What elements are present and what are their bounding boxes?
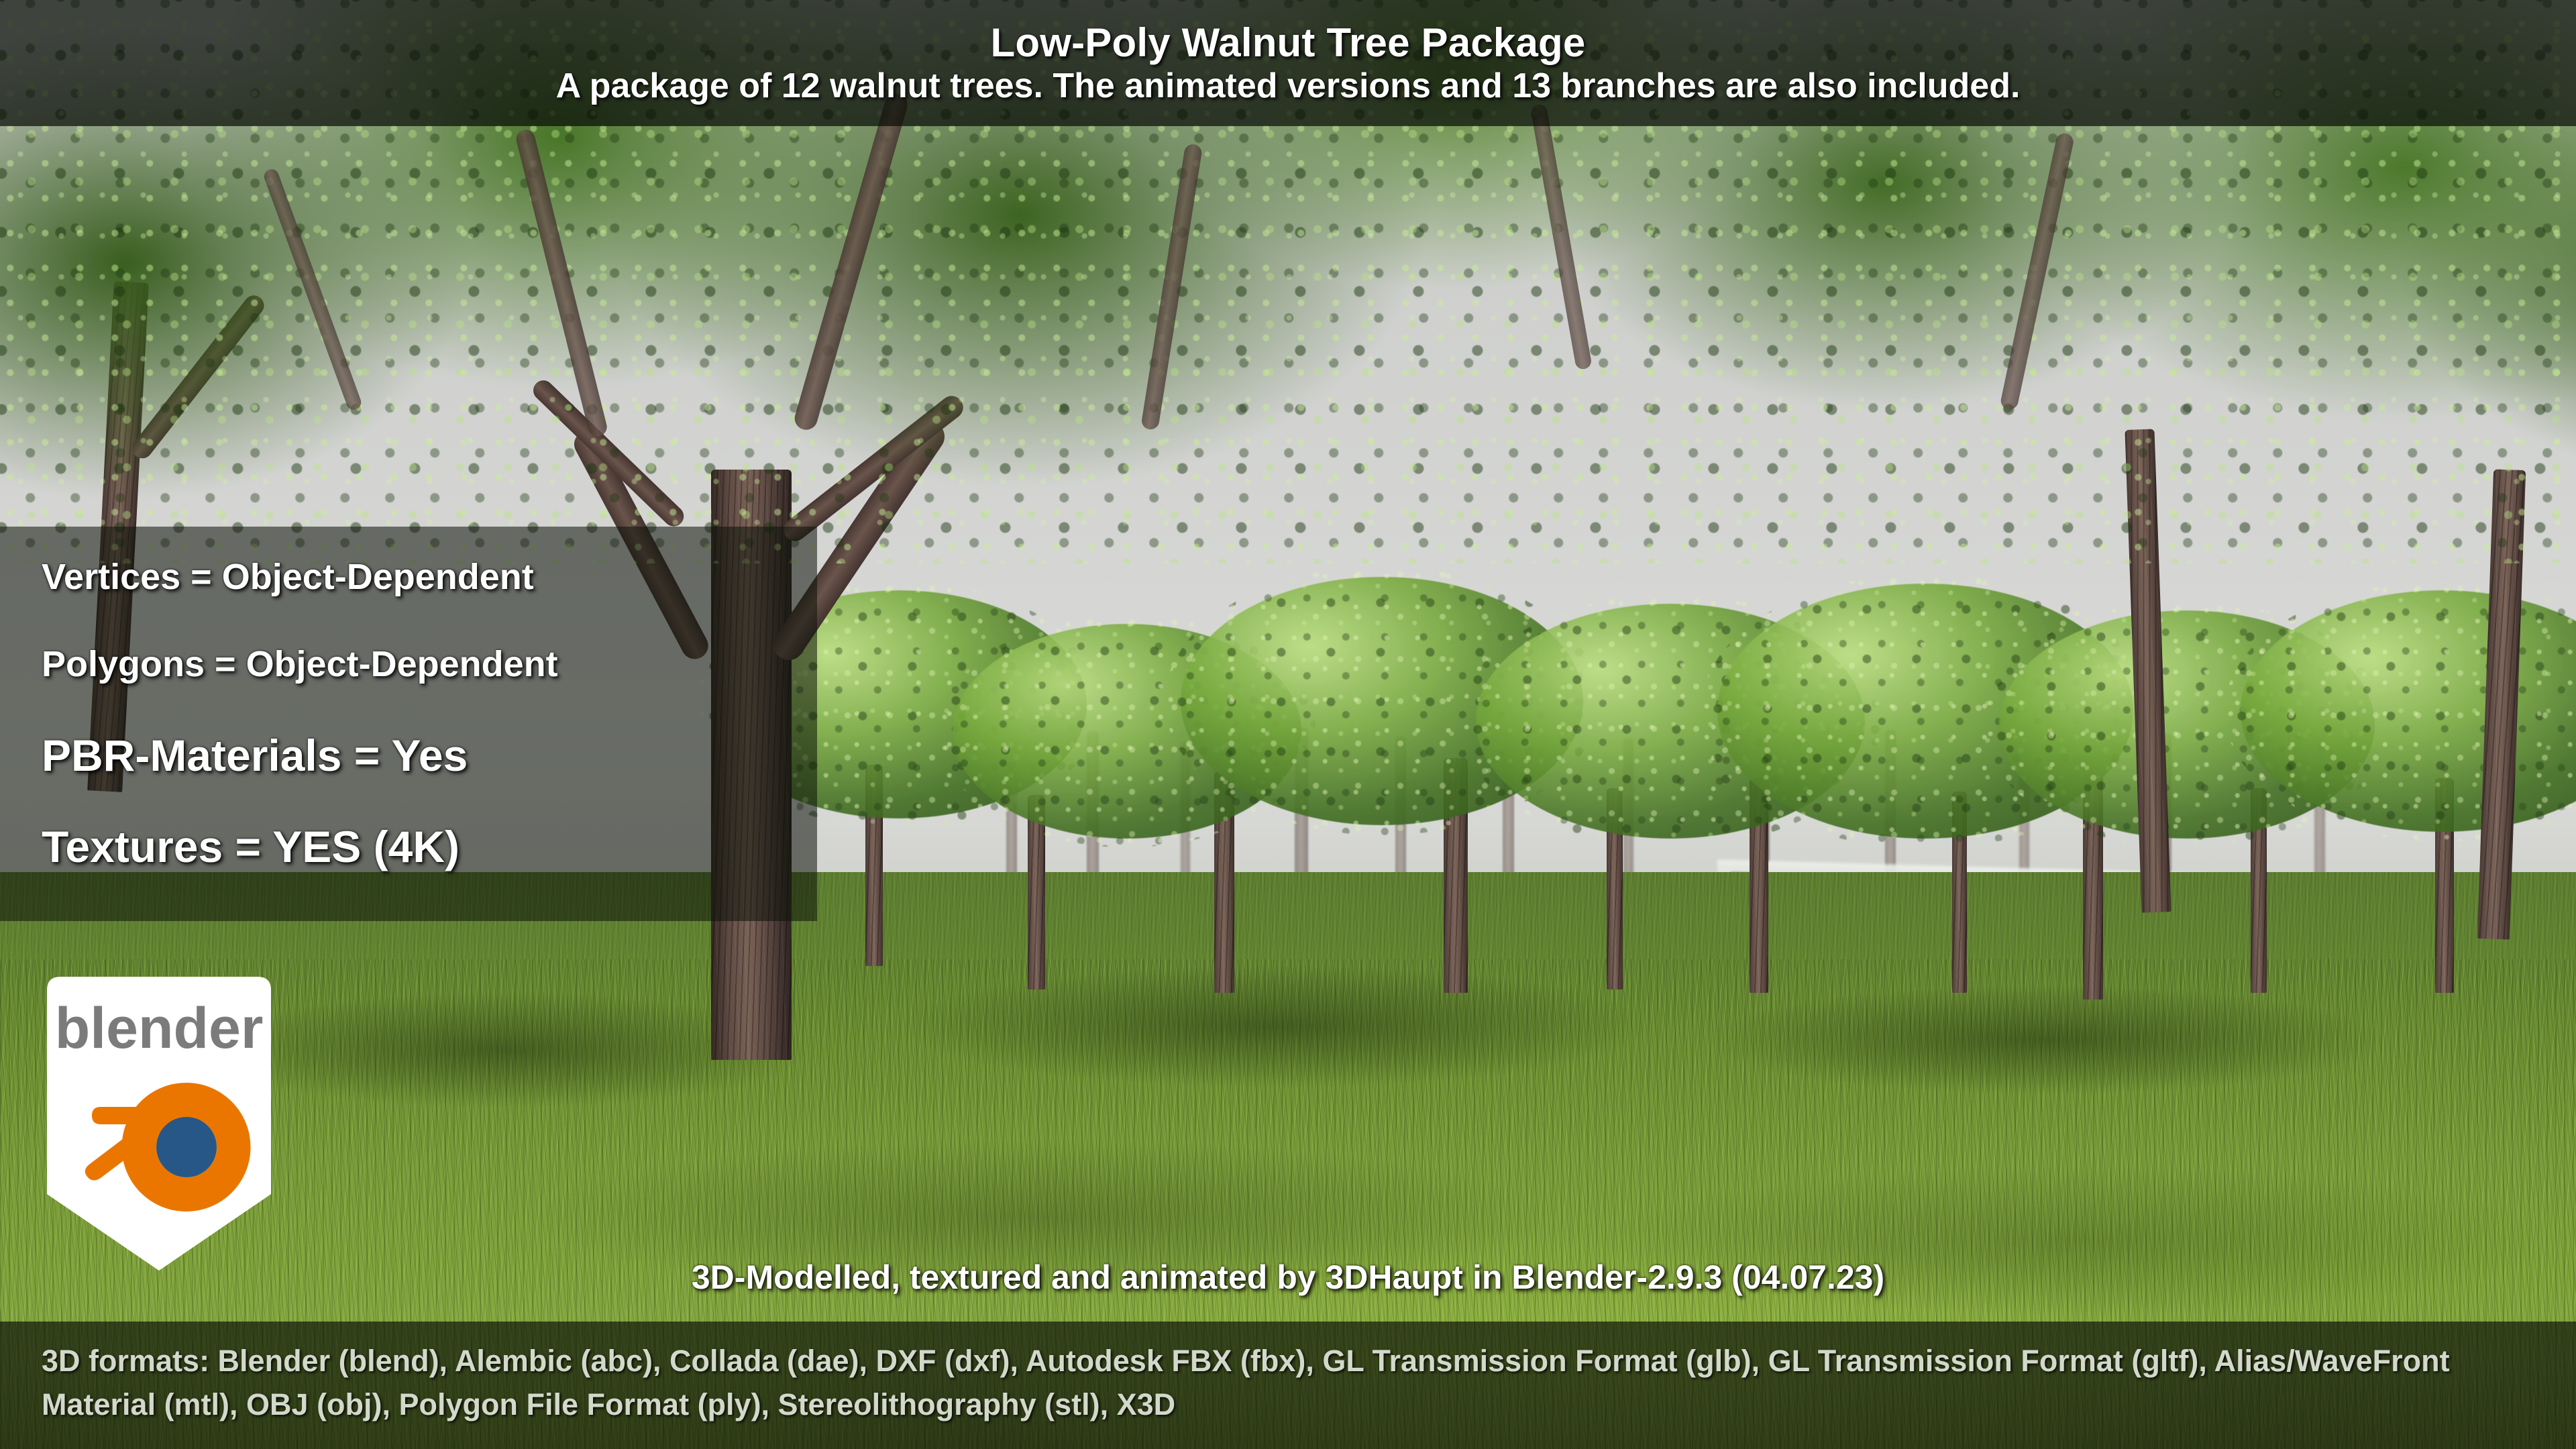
- page-subtitle: A package of 12 walnut trees. The animat…: [556, 68, 2021, 105]
- header-overlay-bar: Low-Poly Walnut Tree Package A package o…: [0, 0, 2576, 126]
- spec-vertices: Vertices = Object-Dependent: [42, 559, 817, 595]
- spec-textures: Textures = YES (4K): [42, 824, 817, 869]
- formats-list: 3D formats: Blender (blend), Alembic (ab…: [42, 1339, 2534, 1427]
- blender-shield-icon: blender: [28, 973, 290, 1275]
- screenshot-root: Low-Poly Walnut Tree Package A package o…: [0, 0, 2576, 1449]
- blender-logo-badge: blender: [28, 973, 290, 1275]
- spec-pbr-materials: PBR-Materials = Yes: [42, 733, 817, 777]
- spec-polygons: Polygons = Object-Dependent: [42, 646, 817, 682]
- page-title: Low-Poly Walnut Tree Package: [991, 21, 1586, 64]
- spec-panel: Vertices = Object-Dependent Polygons = O…: [0, 527, 817, 921]
- credit-line: 3D-Modelled, textured and animated by 3D…: [0, 1258, 2576, 1297]
- blender-wordmark: blender: [55, 996, 264, 1061]
- formats-overlay-bar: 3D formats: Blender (blend), Alembic (ab…: [0, 1322, 2576, 1449]
